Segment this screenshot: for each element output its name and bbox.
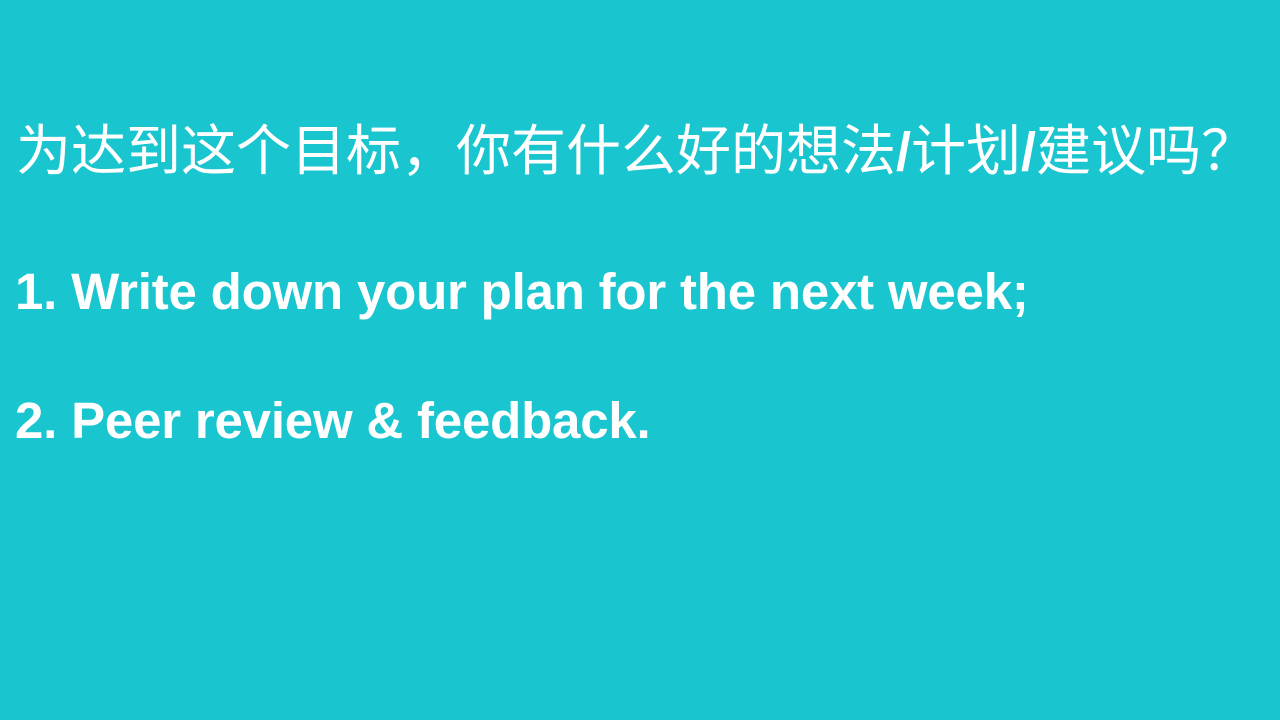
- slide-body-item-1: 1. Write down your plan for the next wee…: [15, 261, 1265, 323]
- slide-empty-region: [0, 465, 1280, 720]
- slide-title: 为达到这个目标，你有什么好的想法/计划/建议吗？: [16, 118, 1264, 185]
- presentation-slide: 为达到这个目标，你有什么好的想法/计划/建议吗？ 1. Write down y…: [0, 0, 1280, 720]
- slide-title-part-2: 计划: [911, 119, 1021, 183]
- slide-title-part-1: 为达到这个目标，你有什么好的想法: [16, 119, 896, 183]
- slide-title-part-3: 建议吗？: [1036, 119, 1256, 183]
- slide-title-separator-2: /: [1021, 122, 1036, 182]
- slide-title-separator-1: /: [896, 122, 911, 182]
- slide-body-item-2: 2. Peer review & feedback.: [15, 390, 1265, 452]
